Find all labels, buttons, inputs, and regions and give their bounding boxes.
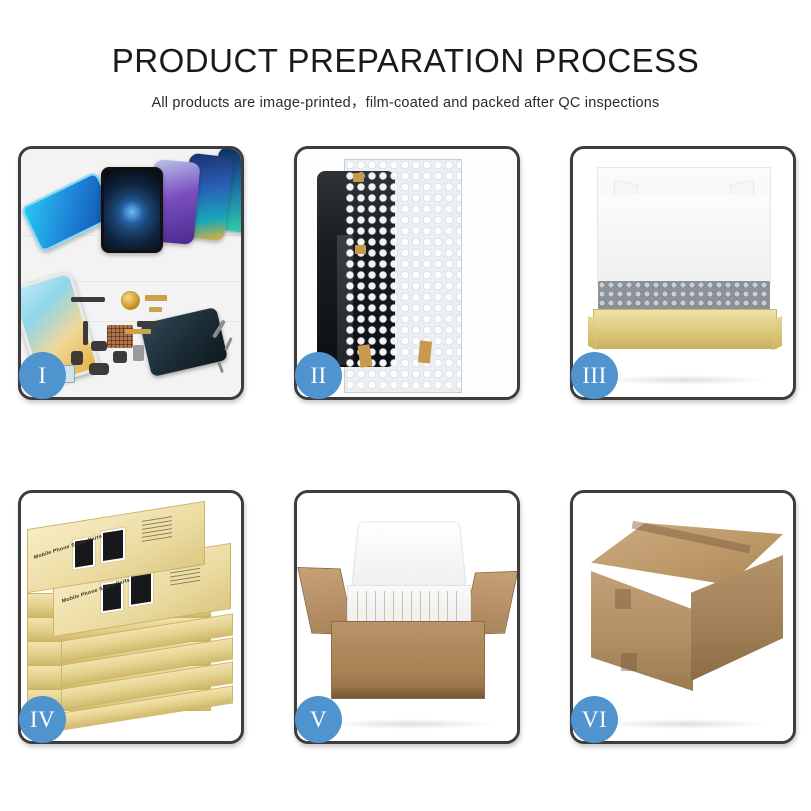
step-panel-4: Mobile Phone Spare Parts Mobile Phone Sp… bbox=[18, 490, 244, 744]
gold-box-base bbox=[593, 309, 777, 349]
step-badge-2: II bbox=[295, 352, 342, 399]
carton-body bbox=[331, 621, 485, 699]
step-panel-2: II bbox=[294, 146, 520, 400]
foam-lid bbox=[351, 522, 467, 587]
gold-tab-top bbox=[353, 173, 364, 182]
step-badge-3: III bbox=[571, 352, 618, 399]
gold-tab-lower-right bbox=[418, 340, 432, 363]
carton-tape-upper bbox=[615, 589, 631, 609]
page-title: PRODUCT PREPARATION PROCESS bbox=[0, 44, 811, 79]
page-subtitle: All products are image-printed，film-coat… bbox=[0, 91, 811, 112]
carton-tape-lower bbox=[621, 653, 637, 671]
page-header: PRODUCT PREPARATION PROCESS All products… bbox=[0, 0, 811, 112]
step-panel-1: I bbox=[18, 146, 244, 400]
step-badge-1: I bbox=[19, 352, 66, 399]
step-badge-5: V bbox=[295, 696, 342, 743]
carton-left-face bbox=[591, 571, 693, 691]
step-badge-6: VI bbox=[571, 696, 618, 743]
phone-back-housing bbox=[140, 307, 228, 377]
step-panel-5: V bbox=[294, 490, 520, 744]
phone-black-screen bbox=[101, 167, 163, 253]
step-panel-3: III bbox=[570, 146, 796, 400]
foam-sheet bbox=[599, 195, 767, 281]
gold-tab-mid bbox=[355, 245, 366, 254]
step-badge-4: IV bbox=[19, 696, 66, 743]
camera-ring-part bbox=[121, 291, 140, 310]
process-steps-grid: I II III bbox=[18, 146, 793, 744]
step-panel-6: VI bbox=[570, 490, 796, 744]
